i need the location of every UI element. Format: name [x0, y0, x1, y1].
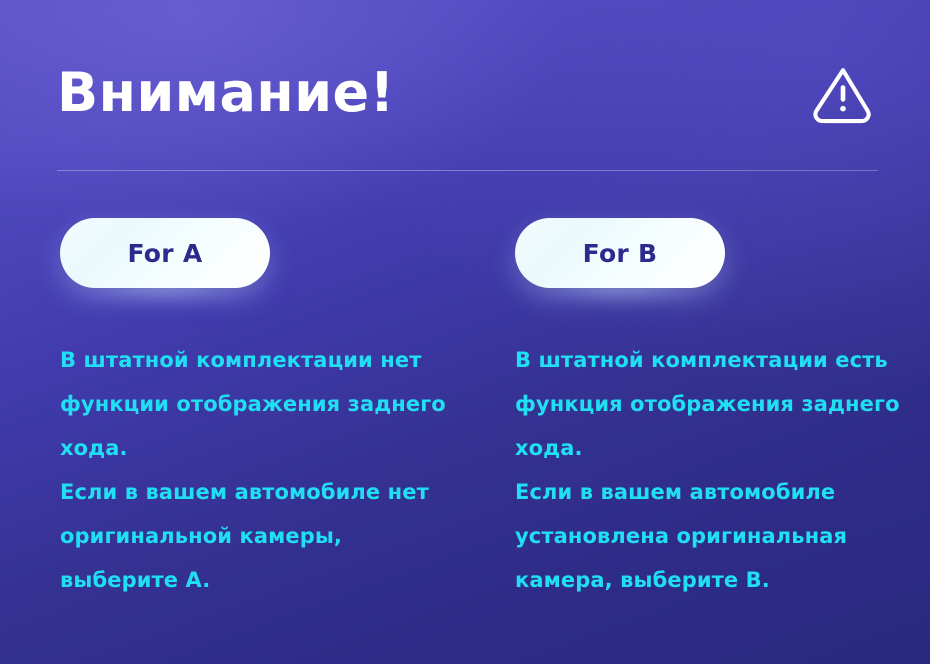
option-a-description: В штатной комплектации нет функции отобр…: [60, 338, 455, 602]
header: Внимание!: [57, 48, 878, 138]
option-b-description: В штатной комплектации есть функция отоб…: [515, 338, 910, 602]
option-a-pill-wrap: For A: [60, 218, 270, 288]
options-container: For A В штатной комплектации нет функции…: [0, 218, 930, 602]
option-b-label: For B: [583, 239, 658, 268]
option-a-button[interactable]: For A: [60, 218, 270, 288]
option-column-a: For A В штатной комплектации нет функции…: [60, 218, 475, 602]
option-a-paragraph-1: В штатной комплектации нет функции отобр…: [60, 338, 455, 470]
page-title: Внимание!: [57, 66, 395, 120]
option-b-button[interactable]: For B: [515, 218, 725, 288]
notice-slide: Внимание! For A В штатной комплектации н…: [0, 0, 930, 664]
option-column-b: For B В штатной комплектации есть функци…: [515, 218, 930, 602]
option-b-paragraph-1: В штатной комплектации есть функция отоб…: [515, 338, 910, 470]
option-a-label: For A: [127, 239, 202, 268]
header-divider: [57, 170, 878, 171]
option-b-pill-wrap: For B: [515, 218, 725, 288]
option-b-paragraph-2: Если в вашем автомобиле установлена ориг…: [515, 470, 910, 602]
option-a-paragraph-2: Если в вашем автомобиле нет оригинальной…: [60, 470, 455, 602]
warning-triangle-icon: [812, 62, 874, 124]
